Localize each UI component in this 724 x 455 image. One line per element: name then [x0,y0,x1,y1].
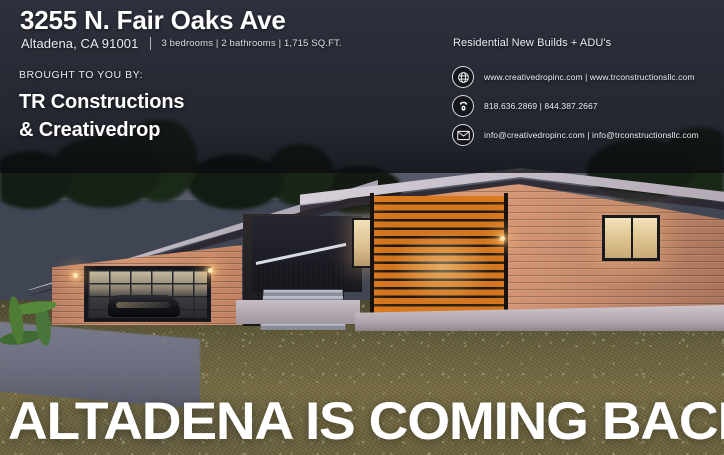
contact-row-website[interactable]: www.creativedropinc.com | www.trconstruc… [452,62,699,92]
slat-screen-post [504,193,508,317]
contact-row-phone[interactable]: 818.636.2869 | 844.387.2667 [452,91,699,121]
contact-row-email[interactable]: info@creativedropinc.com | info@trconstr… [452,120,699,150]
foundation-skirt [236,300,360,324]
palm-shrub [0,273,75,361]
brand-names: TR Constructions & Creativedrop [19,88,184,145]
phone-text: 818.636.2869 | 844.387.2667 [484,101,598,111]
exterior-wall-light [208,268,213,273]
meta-divider [150,37,151,50]
garage-door [84,266,211,322]
flyer-canvas: 3255 N. Fair Oaks Ave Altadena, CA 91001… [0,0,724,455]
property-meta-line: Altadena, CA 91001 3 bedrooms | 2 bathro… [21,36,342,51]
globe-icon [452,66,474,88]
email-text: info@creativedropinc.com | info@trconstr… [484,130,699,140]
brand-name-secondary: & Creativedrop [19,116,184,144]
website-text: www.creativedropinc.com | www.trconstruc… [484,72,695,82]
telephone-icon [452,95,474,117]
property-city-state-zip: Altadena, CA 91001 [21,36,138,51]
wood-slat-backlight [372,196,508,314]
contact-list: www.creativedropinc.com | www.trconstruc… [452,62,699,149]
envelope-icon [452,124,474,146]
exterior-wall-light [500,236,505,241]
services-tagline: Residential New Builds + ADU's [453,37,611,49]
property-address: 3255 N. Fair Oaks Ave [20,6,286,35]
headline-banner: ALTADENA IS COMING BACK [8,395,724,448]
brought-to-you-by-label: BROUGHT TO YOU BY: [19,69,143,81]
exterior-wall-light [73,273,78,278]
car-in-garage [108,295,180,317]
slat-screen-post [370,193,374,317]
brand-name-primary: TR Constructions [19,88,184,116]
property-specs: 3 bedrooms | 2 bathrooms | 1,715 SQ.FT. [161,38,341,49]
lit-window [602,215,660,261]
